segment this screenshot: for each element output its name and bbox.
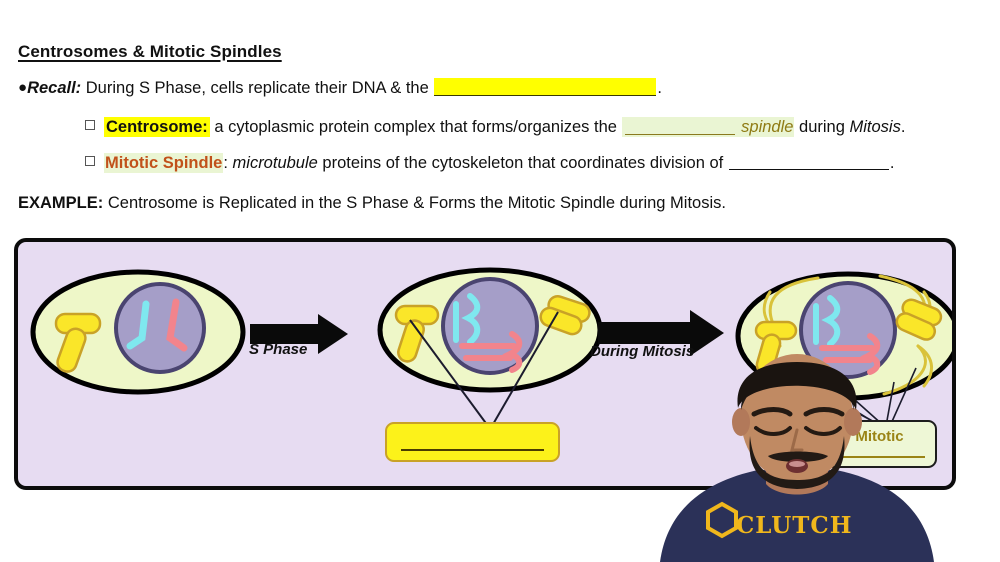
recall-line: ●Recall: During S Phase, cells replicate… [18,78,662,97]
page-title: Centrosomes & Mitotic Spindles [18,42,282,62]
recall-period: . [657,79,662,97]
centrosome-term: Centrosome: [104,117,210,137]
s-phase-cell [380,270,600,426]
centrosome-emphasis: Mitosis [850,118,901,136]
centrosome-blank[interactable] [625,118,735,135]
recall-label: Recall: [27,79,81,97]
mitotic-spindle-italic-word: microtubule [233,154,318,172]
centrosome-definition: a cytoplasmic protein complex that forms… [214,118,617,136]
mitotic-spindle-term: Mitotic Spindle [104,153,223,173]
recall-blank[interactable] [434,78,656,96]
bullet-icon: ● [18,79,27,96]
mitotic-spindle-definition: proteins of the cytoskeleton that coordi… [322,154,723,172]
example-label: EXAMPLE: [18,194,103,212]
callout-blank-box[interactable] [385,422,560,462]
mitotic-spindle-blank[interactable] [729,155,889,170]
square-marker-icon [85,156,95,166]
mitotic-spindle-period: . [890,154,895,172]
square-marker-icon [85,120,95,130]
centrosome-keyword: spindle [741,118,793,136]
mitotic-spindle-colon: : [223,154,228,172]
arrow-label-s-phase: S Phase [249,341,307,358]
centrosome-highlight-group: spindle [622,117,795,137]
recall-text: During S Phase, cells replicate their DN… [86,79,429,97]
clutch-brand-text: CLUTCH [736,512,852,539]
callout-underline [401,449,544,451]
slide-page: Centrosomes & Mitotic Spindles ●Recall: … [0,0,1000,562]
centrosome-line: Centrosome: a cytoplasmic protein comple… [85,118,905,136]
mitotic-spindle-line: Mitotic Spindle: microtubule proteins of… [85,154,894,172]
example-line: EXAMPLE: Centrosome is Replicated in the… [18,194,726,212]
centrosome-period: . [901,118,906,136]
interphase-cell [33,272,243,392]
centrosome-during: during [799,118,845,136]
presenter-video-overlay: CLUTCH [640,352,1000,562]
example-text: Centrosome is Replicated in the S Phase … [108,194,726,212]
